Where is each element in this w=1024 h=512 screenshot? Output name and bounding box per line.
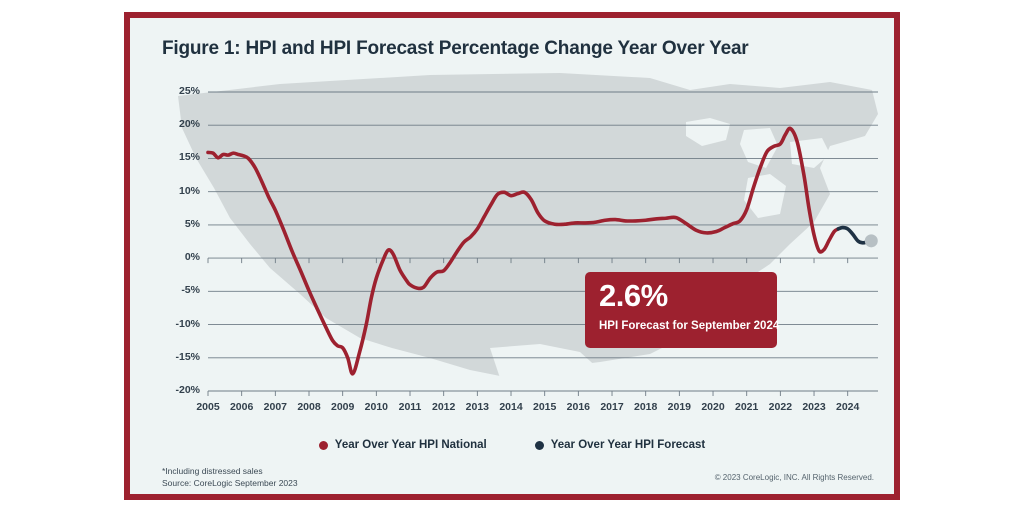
figure-frame: Figure 1: HPI and HPI Forecast Percentag… xyxy=(124,12,900,500)
y-axis-label: -15% xyxy=(154,351,200,363)
copyright-text: © 2023 CoreLogic, INC. All Rights Reserv… xyxy=(715,473,874,482)
legend-dot-forecast xyxy=(535,441,544,450)
legend-label-national: Year Over Year HPI National xyxy=(335,439,487,451)
y-axis-label: 25% xyxy=(154,85,200,97)
y-axis-label: 15% xyxy=(154,151,200,163)
y-axis-label: 0% xyxy=(154,251,200,263)
forecast-end-marker xyxy=(865,234,878,247)
forecast-value: 2.6% xyxy=(599,278,668,314)
figure-inner: Figure 1: HPI and HPI Forecast Percentag… xyxy=(130,18,894,494)
x-axis-label: 2024 xyxy=(828,401,868,413)
footnote: *Including distressed sales Source: Core… xyxy=(162,465,298,490)
y-axis-label: -10% xyxy=(154,318,200,330)
footnote-line-2: Source: CoreLogic September 2023 xyxy=(162,477,298,489)
forecast-callout: 2.6% HPI Forecast for September 2024 xyxy=(585,272,777,348)
legend-dot-national xyxy=(319,441,328,450)
legend-item-forecast[interactable]: Year Over Year HPI Forecast xyxy=(535,439,706,451)
footnote-line-1: *Including distressed sales xyxy=(162,465,298,477)
chart-plot-area: 25%20%15%10%5%0%-5%-10%-15%-20%200520062… xyxy=(130,18,894,494)
y-axis-label: -5% xyxy=(154,284,200,296)
chart-svg xyxy=(130,18,894,494)
legend-item-national[interactable]: Year Over Year HPI National xyxy=(319,439,487,451)
y-axis-label: 10% xyxy=(154,185,200,197)
y-axis-label: 5% xyxy=(154,218,200,230)
forecast-caption: HPI Forecast for September 2024 xyxy=(599,320,779,332)
y-axis-label: -20% xyxy=(154,384,200,396)
chart-legend: Year Over Year HPI National Year Over Ye… xyxy=(130,439,894,451)
legend-label-forecast: Year Over Year HPI Forecast xyxy=(551,439,706,451)
y-axis-label: 20% xyxy=(154,118,200,130)
